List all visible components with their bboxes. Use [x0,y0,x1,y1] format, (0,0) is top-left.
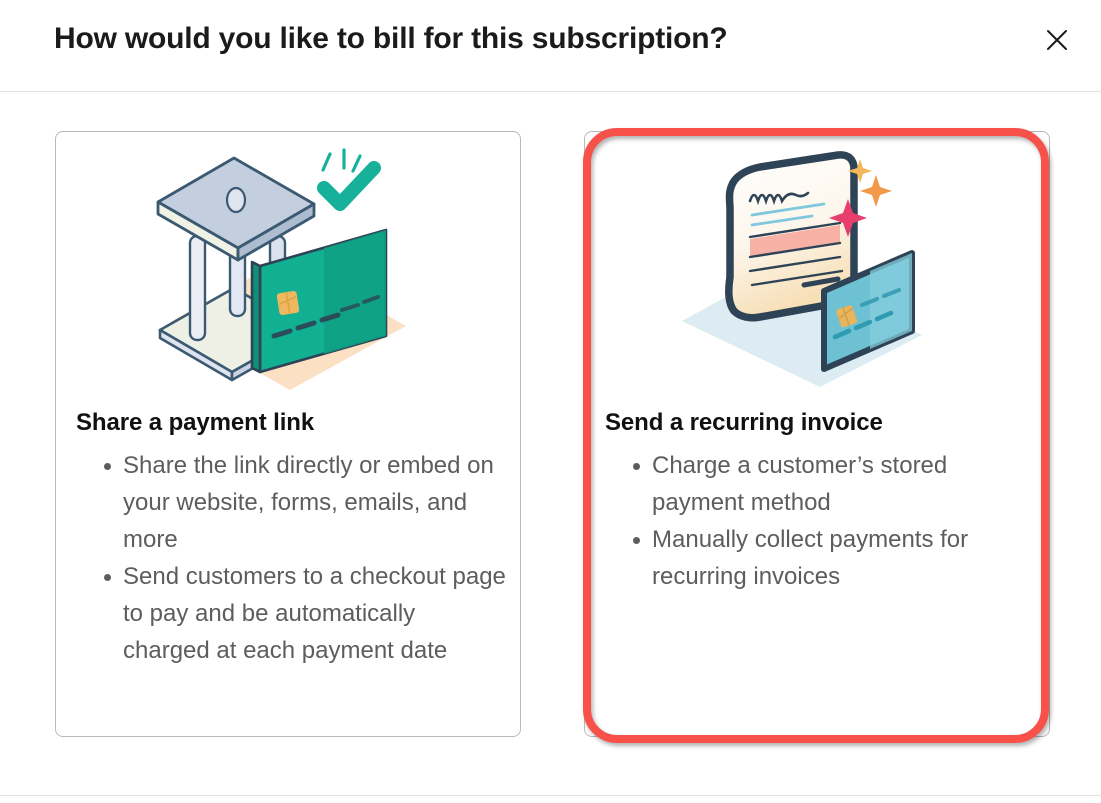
invoice-and-credit-card-illustration [585,132,1049,407]
option-card-share-payment-link[interactable]: Share a payment link Share the link dire… [55,131,521,737]
list-item: Manually collect payments for recurring … [652,521,1037,595]
chip-icon [276,290,299,315]
modal-header: How would you like to bill for this subs… [0,0,1101,92]
option-card-send-recurring-invoice[interactable]: Send a recurring invoice Charge a custom… [584,131,1050,737]
check-sparkle-lines [323,150,360,171]
check-icon [324,168,374,204]
option-heading-share-payment-link: Share a payment link [76,409,314,437]
list-item: Charge a customer’s stored payment metho… [652,447,1037,521]
sparkle-orange-icon [860,175,892,207]
list-item: Send customers to a checkout page to pay… [123,558,508,669]
close-button[interactable] [1035,18,1079,62]
modal-body: Share a payment link Share the link dire… [0,92,1101,795]
bank-illustration-svg [138,140,438,400]
bank-and-credit-card-illustration [56,132,520,407]
close-icon [1044,27,1070,53]
invoice-illustration-svg [672,145,962,395]
option-heading-send-recurring-invoice: Send a recurring invoice [605,409,883,437]
option-bullets-share-payment-link: Share the link directly or embed on your… [101,447,508,669]
modal-footer [0,795,1101,803]
page-title: How would you like to bill for this subs… [54,22,728,56]
option-bullets-send-recurring-invoice: Charge a customer’s stored payment metho… [630,447,1037,595]
list-item: Share the link directly or embed on your… [123,447,508,558]
